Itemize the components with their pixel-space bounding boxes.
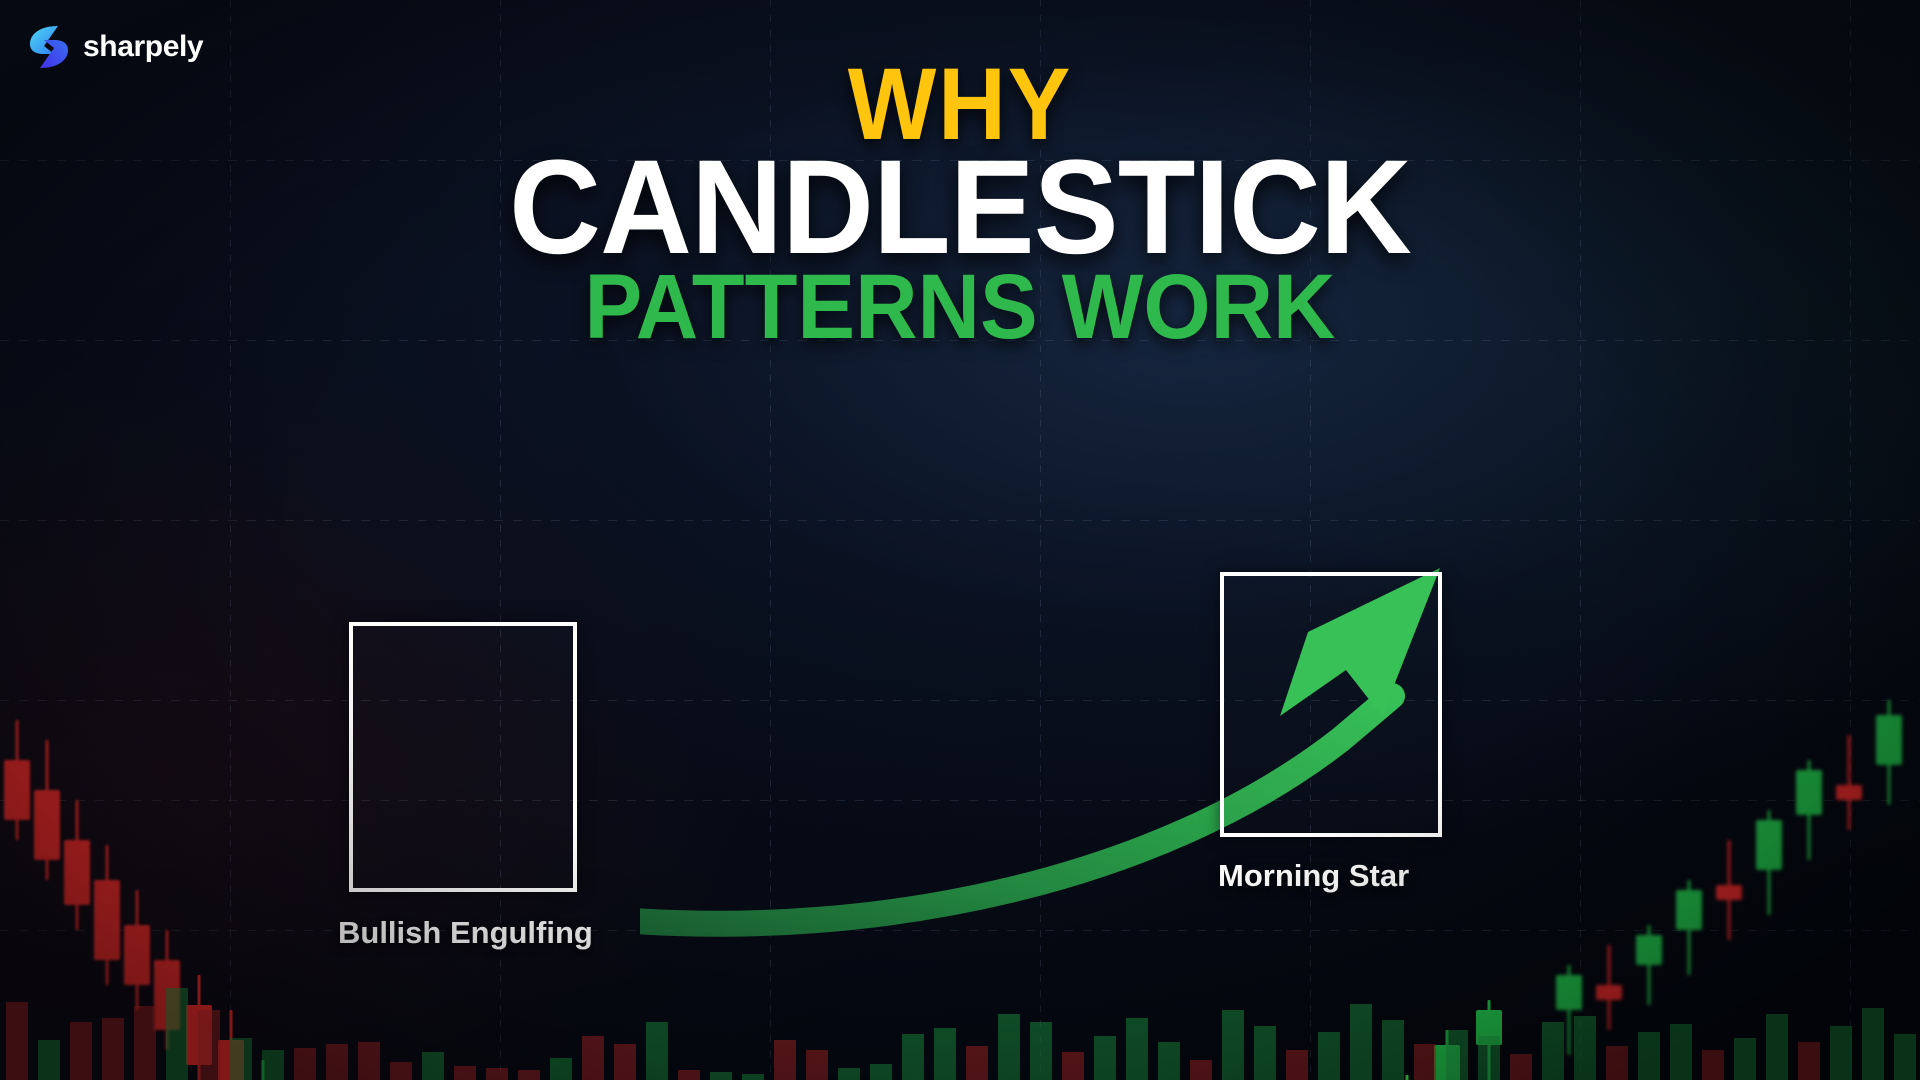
volume-bar: [70, 1022, 92, 1080]
volume-bar: [838, 1068, 860, 1080]
candle-body: [1596, 985, 1622, 1000]
volume-bar: [646, 1022, 668, 1080]
volume-bar: [774, 1040, 796, 1080]
volume-bar: [1382, 1020, 1404, 1080]
volume-bar: [1510, 1054, 1532, 1080]
volume-bar: [1574, 1016, 1596, 1080]
volume-bar: [1702, 1050, 1724, 1080]
volume-bar: [806, 1050, 828, 1080]
volume-bar: [134, 1006, 156, 1080]
volume-bar: [902, 1034, 924, 1080]
volume-bar: [1030, 1022, 1052, 1080]
volume-bar: [1222, 1010, 1244, 1080]
pattern-box-morning-star[interactable]: [1220, 572, 1442, 837]
candle-body: [94, 880, 120, 960]
volume-bar: [390, 1062, 412, 1080]
volume-bar: [166, 988, 188, 1080]
volume-bar: [198, 1010, 220, 1080]
candle-body: [34, 790, 60, 860]
volume-bar: [1350, 1004, 1372, 1080]
volume-bar: [1670, 1024, 1692, 1080]
volume-bar: [1638, 1032, 1660, 1080]
volume-bar: [1286, 1050, 1308, 1080]
pattern-label-morning-star: Morning Star: [1218, 858, 1409, 894]
volume-bar: [1318, 1032, 1340, 1080]
volume-bar: [454, 1066, 476, 1080]
volume-bar: [1830, 1026, 1852, 1080]
candle-body: [1876, 715, 1902, 765]
volume-bar: [6, 1002, 28, 1080]
volume-bar: [710, 1072, 732, 1080]
candle-body: [1836, 785, 1862, 800]
volume-bar: [1766, 1014, 1788, 1080]
candle-body: [64, 840, 90, 905]
volume-bar: [614, 1044, 636, 1080]
candle-body: [1756, 820, 1782, 870]
volume-bar: [870, 1064, 892, 1080]
pattern-label-bullish-engulfing: Bullish Engulfing: [338, 915, 593, 951]
page-title: WHY CANDLESTICK PATTERNS WORK: [0, 58, 1920, 350]
headline-line-3: PATTERNS WORK: [58, 265, 1863, 350]
candle-wick: [1848, 735, 1851, 830]
volume-bar: [1478, 1036, 1500, 1080]
volume-bar: [486, 1068, 508, 1080]
volume-bar: [1446, 1030, 1468, 1080]
volume-bar: [1606, 1046, 1628, 1080]
volume-bar: [294, 1048, 316, 1080]
volume-bar: [326, 1044, 348, 1080]
volume-bar: [38, 1040, 60, 1080]
candle-body: [1556, 975, 1582, 1010]
volume-bar: [1094, 1036, 1116, 1080]
volume-bar: [1894, 1034, 1916, 1080]
volume-bar: [1254, 1026, 1276, 1080]
candle-body: [4, 760, 30, 820]
volume-bar: [102, 1018, 124, 1080]
volume-bar: [1190, 1060, 1212, 1080]
volume-bar: [1062, 1052, 1084, 1080]
volume-bar: [518, 1070, 540, 1080]
headline-line-2: CANDLESTICK: [48, 146, 1872, 269]
volume-bar: [1862, 1008, 1884, 1080]
pattern-box-bullish-engulfing[interactable]: [349, 622, 577, 892]
volume-bar: [230, 1038, 252, 1080]
volume-bar: [422, 1052, 444, 1080]
volume-bar: [934, 1028, 956, 1080]
volume-bar: [1734, 1038, 1756, 1080]
volume-bar: [966, 1046, 988, 1080]
volume-bar: [998, 1014, 1020, 1080]
volume-bar: [550, 1058, 572, 1080]
candle-body: [1716, 885, 1742, 900]
volume-bar: [1542, 1022, 1564, 1080]
volume-bar: [678, 1070, 700, 1080]
volume-bar: [1126, 1018, 1148, 1080]
candle-body: [1796, 770, 1822, 815]
volume-bar: [262, 1050, 284, 1080]
volume-bar: [582, 1036, 604, 1080]
volume-bar: [1414, 1044, 1436, 1080]
uptrend-arrow-icon: [640, 520, 1700, 940]
candle-wick: [1406, 1075, 1409, 1080]
volume-bar: [1798, 1042, 1820, 1080]
volume-bar: [1158, 1042, 1180, 1080]
volume-bar: [358, 1042, 380, 1080]
candle-body: [124, 925, 150, 985]
volume-bar: [742, 1074, 764, 1080]
thumbnail-canvas: Bullish EngulfingMorning Star sharpely W…: [0, 0, 1920, 1080]
